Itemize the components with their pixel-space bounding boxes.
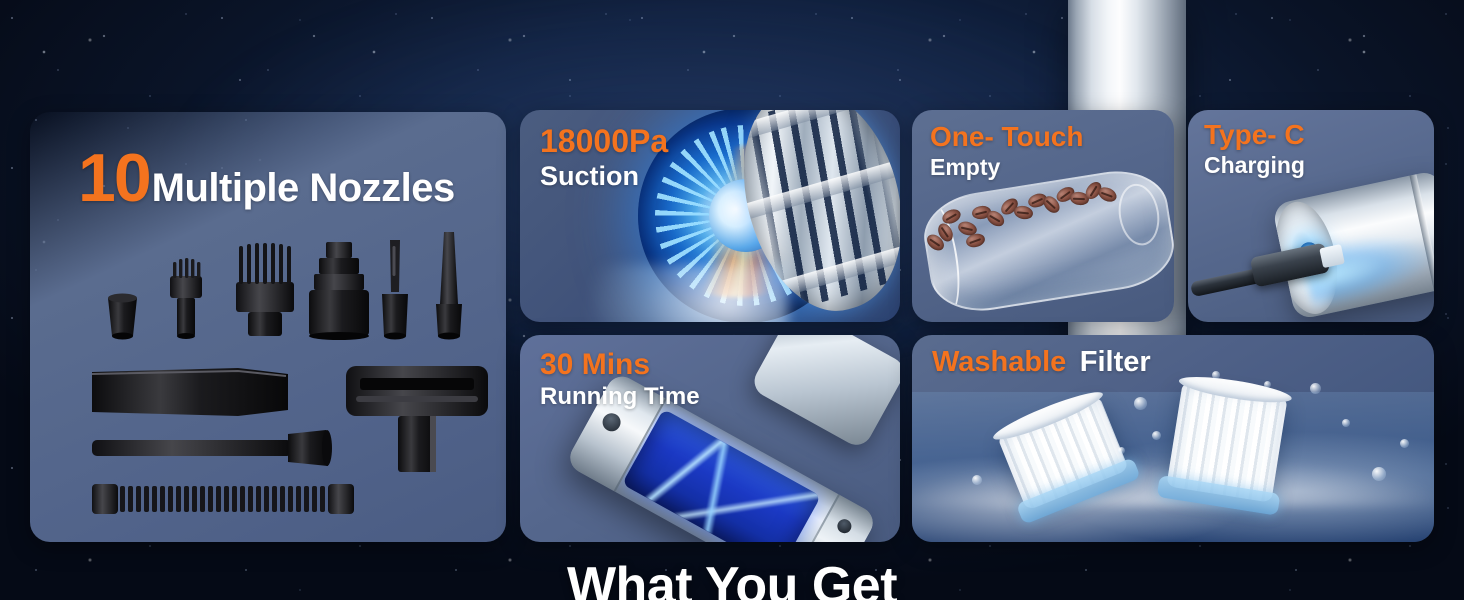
- panel-running-time[interactable]: 30 Mins Running Time: [520, 335, 900, 542]
- suction-title-group: 18000Pa Suction: [540, 125, 668, 191]
- suction-title: 18000Pa: [540, 125, 668, 159]
- footer-headline: What You Get: [0, 556, 1464, 600]
- runtime-subtitle: Running Time: [540, 384, 700, 409]
- panel-one-touch-empty[interactable]: One- Touch Empty: [912, 110, 1174, 322]
- suction-subtitle: Suction: [540, 162, 668, 191]
- nozzle-row-bottom-image: [88, 362, 488, 522]
- type-c-title: Type- C: [1204, 120, 1305, 150]
- panel-washable-filter[interactable]: Washable Filter: [912, 335, 1434, 542]
- nozzles-count: 10: [78, 142, 150, 214]
- nozzles-title: 10 Multiple Nozzles: [78, 142, 455, 214]
- filter-title-group: Washable Filter: [932, 347, 1151, 378]
- filter-title-white: Filter: [1080, 346, 1151, 378]
- one-touch-title: One- Touch: [930, 122, 1083, 152]
- panel-multiple-nozzles[interactable]: 10 Multiple Nozzles: [30, 112, 506, 542]
- filter-title-orange: Washable: [932, 346, 1066, 378]
- type-c-title-group: Type- C Charging: [1204, 120, 1305, 177]
- filter-right-image: [1166, 381, 1287, 502]
- panel-suction[interactable]: 18000Pa Suction: [520, 110, 900, 322]
- nozzle-row-top-image: [88, 232, 488, 342]
- one-touch-title-group: One- Touch Empty: [930, 122, 1083, 179]
- nozzles-label: Multiple Nozzles: [152, 167, 455, 209]
- infographic-stage: 10 Multiple Nozzles: [0, 0, 1464, 600]
- one-touch-subtitle: Empty: [930, 155, 1083, 179]
- motor-head-image: [749, 335, 900, 450]
- coffee-beans-image: [912, 170, 1142, 246]
- panel-type-c-charging[interactable]: Type- C Charging: [1188, 110, 1434, 322]
- runtime-title-group: 30 Mins Running Time: [540, 349, 700, 409]
- runtime-title: 30 Mins: [540, 349, 700, 381]
- type-c-subtitle: Charging: [1204, 153, 1305, 177]
